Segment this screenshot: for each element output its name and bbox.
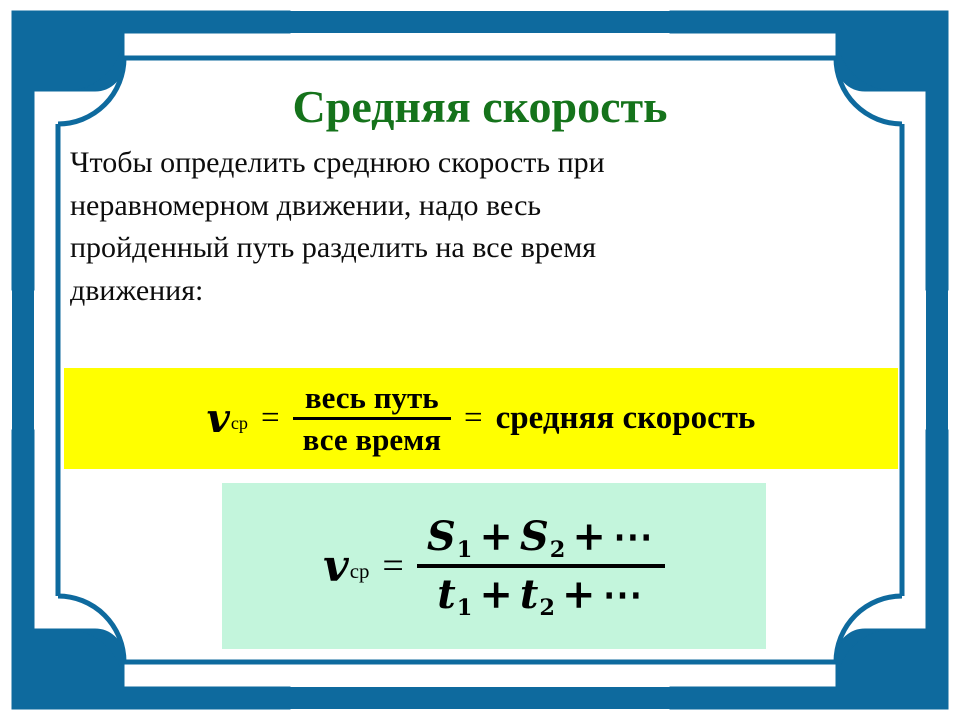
subscript-1: 1 xyxy=(457,595,473,621)
equation-sum: vср = S1+S2+⋯ t1+t2+⋯ xyxy=(323,517,665,615)
equation-definition: vср = весь путь все время = средняя скор… xyxy=(207,382,756,455)
plus-sign: + xyxy=(479,571,513,618)
plus-sign: + xyxy=(479,513,513,560)
term-t2: t xyxy=(520,571,538,618)
fraction-distances-over-times: S1+S2+⋯ t1+t2+⋯ xyxy=(417,517,665,615)
page-title: Средняя скорость xyxy=(62,84,898,130)
fraction-bar xyxy=(417,564,665,568)
variable-v: v xyxy=(207,395,230,442)
body-line: неравномерном движении, надо весь xyxy=(70,185,872,228)
subscript-sr: ср xyxy=(350,559,370,584)
fraction-numerator: S1+S2+⋯ xyxy=(417,517,665,557)
formula-box-average-speed-definition: vср = весь путь все время = средняя скор… xyxy=(64,368,898,469)
result-label: средняя скорость xyxy=(496,400,756,437)
fraction-denominator: все время xyxy=(293,424,451,455)
slide-content: Средняя скорость Чтобы определить средню… xyxy=(62,66,898,654)
fraction-path-over-time: весь путь все время xyxy=(293,382,451,455)
variable-v: v xyxy=(323,541,349,592)
slide-root: Средняя скорость Чтобы определить средню… xyxy=(0,0,960,720)
equals-sign: = xyxy=(261,400,280,437)
ellipsis: ⋯ xyxy=(602,571,644,618)
equals-sign: = xyxy=(382,544,403,588)
fraction-bar xyxy=(293,417,451,420)
body-line: Чтобы определить среднюю скорость при xyxy=(70,142,872,185)
formula-box-average-speed-sum: vср = S1+S2+⋯ t1+t2+⋯ xyxy=(222,483,766,649)
term-s2: S xyxy=(520,513,549,560)
fraction-numerator: весь путь xyxy=(295,382,449,413)
plus-sign: + xyxy=(562,571,596,618)
subscript-2: 2 xyxy=(539,595,555,621)
plus-sign: + xyxy=(572,513,606,560)
subscript-2: 2 xyxy=(550,537,566,563)
body-line: движения: xyxy=(70,270,872,313)
term-t1: t xyxy=(437,571,455,618)
ellipsis: ⋯ xyxy=(613,513,655,560)
fraction-denominator: t1+t2+⋯ xyxy=(427,575,654,615)
subscript-1: 1 xyxy=(457,537,473,563)
term-s1: S xyxy=(427,513,456,560)
body-line: пройденный путь разделить на все время xyxy=(70,227,872,270)
equals-sign-2: = xyxy=(464,400,483,437)
subscript-sr: ср xyxy=(231,413,248,434)
body-paragraph: Чтобы определить среднюю скорость при не… xyxy=(62,142,898,312)
